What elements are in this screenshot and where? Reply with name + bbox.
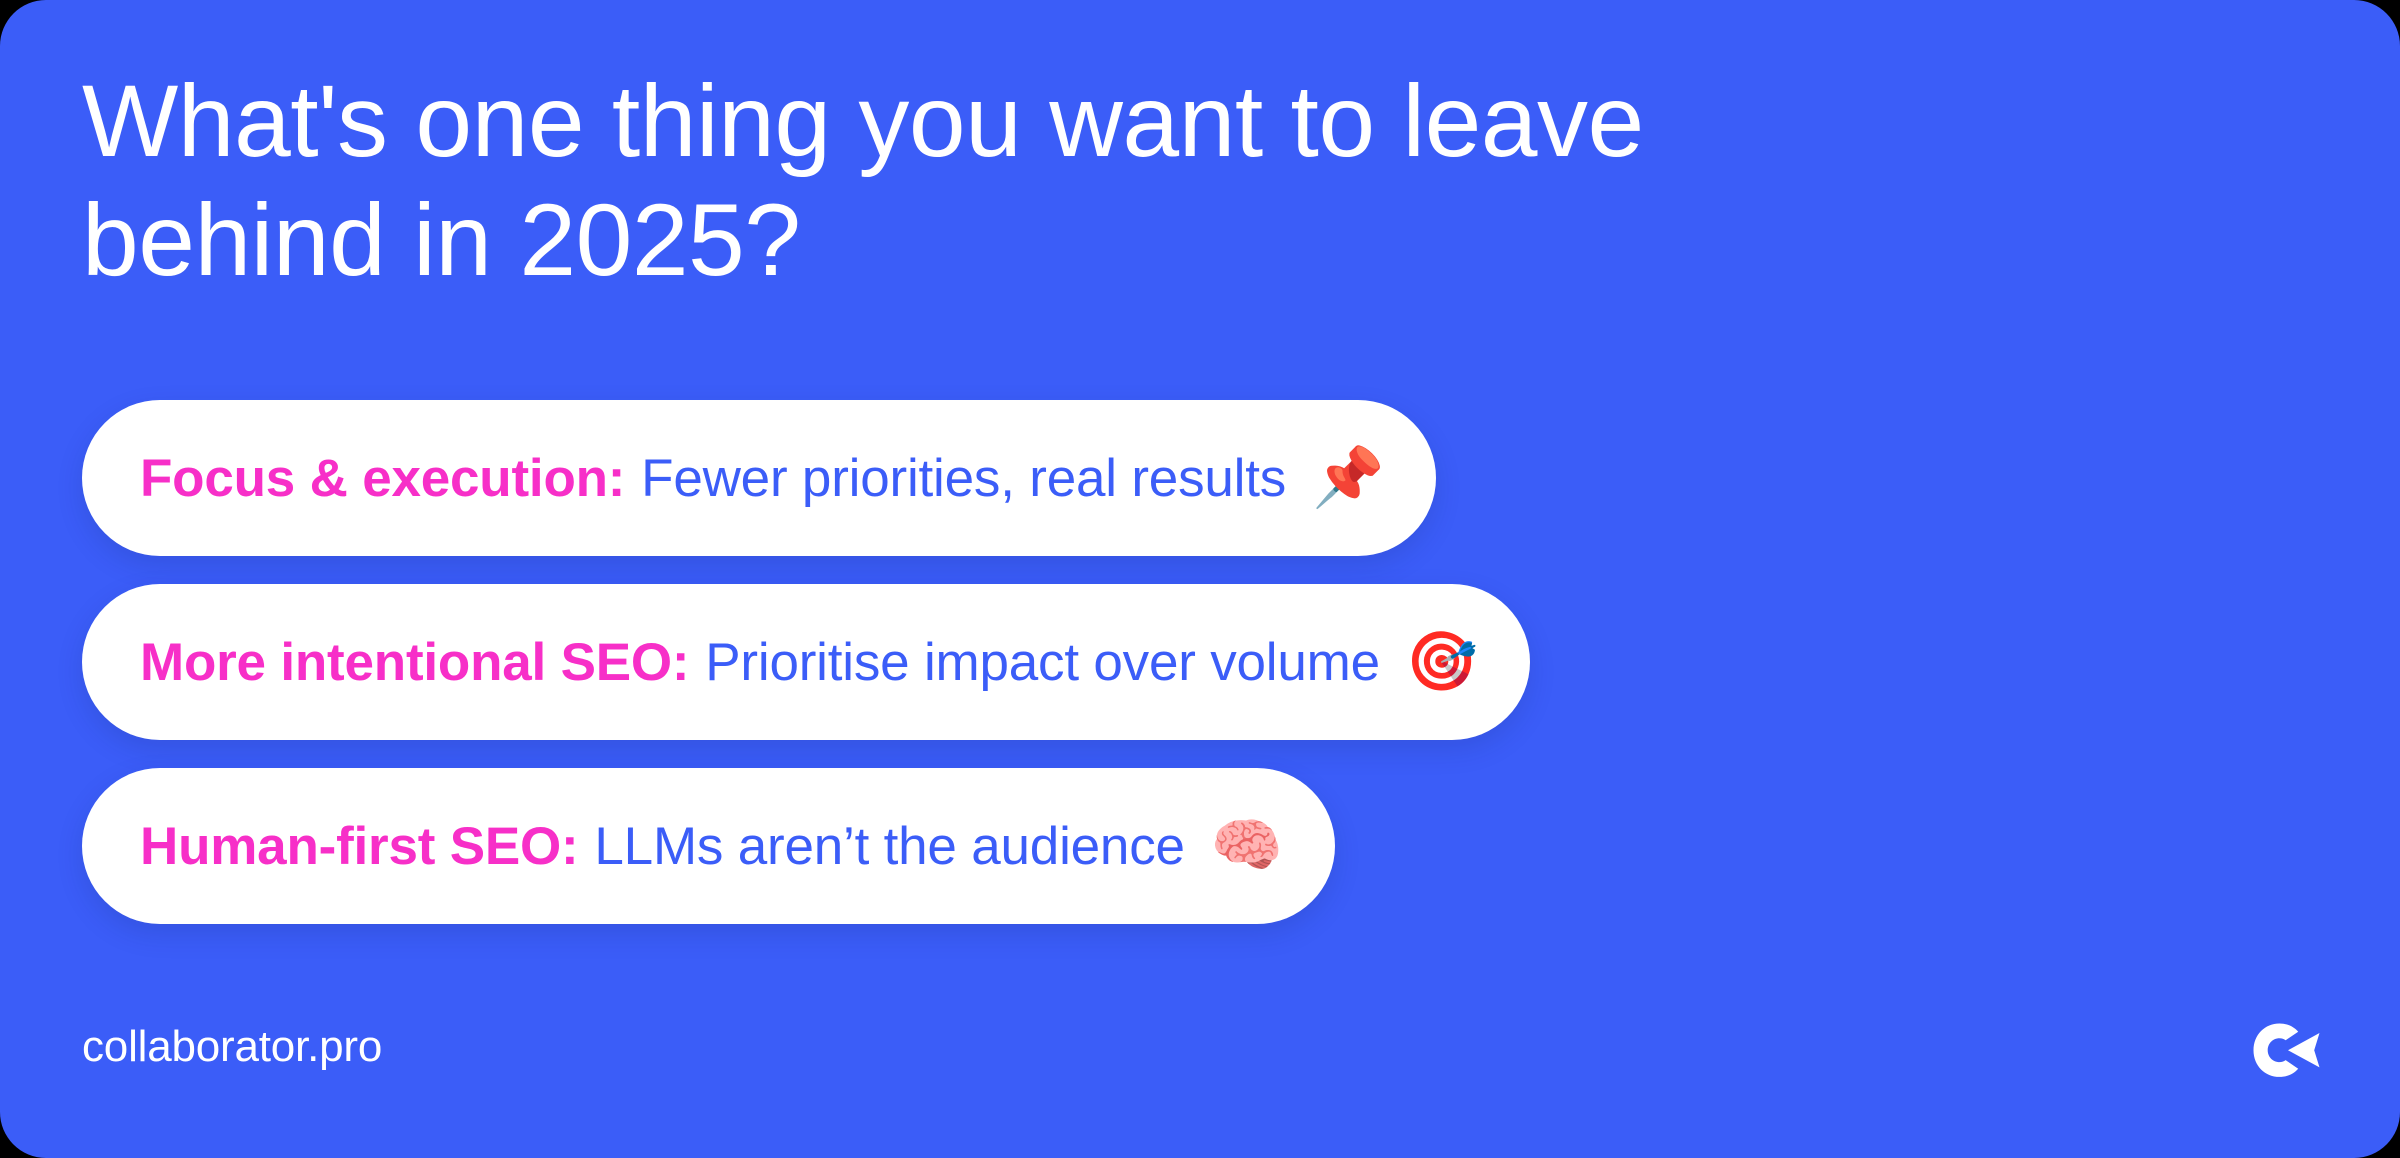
slide-canvas: What's one thing you want to leave behin… bbox=[0, 0, 2400, 1158]
card-label: More intentional SEO: bbox=[140, 636, 689, 689]
card-body: Prioritise impact over volume bbox=[705, 636, 1380, 689]
collaborator-logo bbox=[2248, 1020, 2324, 1082]
card-body: LLMs aren’t the audience bbox=[594, 820, 1184, 873]
list-item[interactable]: Human-first SEO: LLMs aren’t the audienc… bbox=[82, 768, 1335, 924]
card-label: Human-first SEO: bbox=[140, 820, 579, 873]
card-text: Focus & execution: Fewer priorities, rea… bbox=[140, 452, 1286, 505]
footer-website-url[interactable]: collaborator.pro bbox=[82, 1022, 382, 1072]
bullseye-target-emoji: 🎯 bbox=[1406, 633, 1478, 691]
card-body: Fewer priorities, real results bbox=[641, 452, 1286, 505]
list-item[interactable]: Focus & execution: Fewer priorities, rea… bbox=[82, 400, 1436, 556]
pushpin-emoji: 📌 bbox=[1312, 449, 1384, 507]
page-title: What's one thing you want to leave behin… bbox=[82, 62, 1922, 301]
list-item[interactable]: More intentional SEO: Prioritise impact … bbox=[82, 584, 1530, 740]
card-text: Human-first SEO: LLMs aren’t the audienc… bbox=[140, 820, 1185, 873]
card-text: More intentional SEO: Prioritise impact … bbox=[140, 636, 1380, 689]
card-label: Focus & execution: bbox=[140, 452, 625, 505]
brain-emoji: 🧠 bbox=[1211, 817, 1283, 875]
answer-card-list: Focus & execution: Fewer priorities, rea… bbox=[82, 400, 1530, 924]
